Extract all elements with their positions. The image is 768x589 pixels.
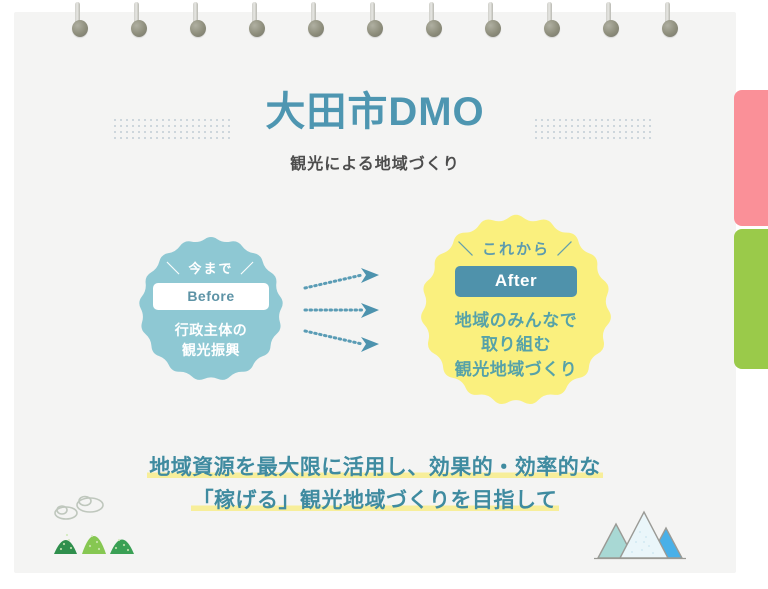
ring-bead — [367, 20, 383, 37]
spiral-ring-icon — [310, 2, 317, 36]
page-subtitle: 観光による地域づくり — [14, 150, 736, 174]
spiral-ring-icon — [74, 2, 81, 36]
cloud-icon-small — [55, 506, 77, 519]
after-body-line-2: 取り組む — [455, 333, 578, 357]
ring-bead — [190, 20, 206, 37]
before-body-line-1: 行政主体の — [175, 321, 248, 341]
slash-right-icon: ／ — [557, 238, 574, 259]
ring-bead — [249, 20, 265, 37]
after-body-line-3: 観光地域づくり — [455, 358, 578, 382]
after-tag-line: ＼ これから ／ — [458, 238, 574, 259]
after-pill-label: After — [455, 266, 577, 297]
spiral-ring-icon — [192, 2, 199, 36]
spiral-ring-icon — [369, 2, 376, 36]
ring-bead — [308, 20, 324, 37]
slash-left-icon: ＼ — [166, 258, 181, 277]
after-tag-label: これから — [482, 238, 550, 259]
spiral-ring-icon — [251, 2, 258, 36]
spiral-ring-icon — [133, 2, 140, 36]
before-tag-label: 今まで — [188, 258, 233, 277]
spiral-ring-icon — [487, 2, 494, 36]
green-mountains-illustration — [44, 492, 148, 564]
slash-left-icon: ＼ — [458, 238, 475, 259]
slash-right-icon: ／ — [241, 258, 256, 277]
transition-arrows — [299, 268, 399, 352]
before-badge: ＼ 今まで ／ Before 行政主体の 観光振興 — [137, 232, 285, 386]
mountain-left-icon — [54, 540, 77, 554]
mountain-right-icon — [110, 540, 134, 555]
spiral-ring-icon — [605, 2, 612, 36]
before-body-line-2: 観光振興 — [175, 341, 248, 361]
dotted-arrow-up-icon — [305, 268, 379, 288]
mountain-snow-icon — [620, 512, 668, 558]
before-tag-line: ＼ 今まで ／ — [166, 258, 255, 277]
ring-bead — [72, 20, 88, 37]
slide-header: 大田市DMO 観光による地域づくり — [14, 92, 736, 174]
dotted-arrow-group-icon — [299, 268, 399, 352]
page-title: 大田市DMO — [14, 92, 736, 132]
dotted-arrow-right-icon — [305, 303, 379, 318]
spiral-ring-icon — [546, 2, 553, 36]
after-badge: ＼ これから ／ After 地域のみんなで 取り組む 観光地域づくり — [418, 208, 614, 412]
side-tab-pink[interactable] — [734, 90, 768, 226]
cloud-icon-large — [77, 497, 103, 513]
dotted-arrow-down-icon — [305, 331, 379, 352]
ring-bead — [603, 20, 619, 37]
ring-bead — [544, 20, 560, 37]
message-line-1: 地域資源を最大限に活用し、効果的・効率的な — [14, 452, 736, 485]
snowy-mountains-illustration — [592, 506, 688, 562]
after-body-text: 地域のみんなで 取り組む 観光地域づくり — [455, 309, 578, 381]
spiral-ring-icon — [428, 2, 435, 36]
ring-bead — [662, 20, 678, 37]
ring-bead — [131, 20, 147, 37]
after-body-line-1: 地域のみんなで — [455, 309, 578, 333]
side-tab-green[interactable] — [734, 229, 768, 369]
ring-bead — [426, 20, 442, 37]
spiral-ring-icon — [664, 2, 671, 36]
before-body-text: 行政主体の 観光振興 — [175, 321, 248, 361]
slide-canvas: 大田市DMO 観光による地域づくり ＼ 今まで ／ Before 行政主体の 観… — [0, 0, 768, 589]
before-pill-label: Before — [153, 283, 268, 310]
mountain-center-icon — [82, 536, 106, 554]
ring-bead — [485, 20, 501, 37]
